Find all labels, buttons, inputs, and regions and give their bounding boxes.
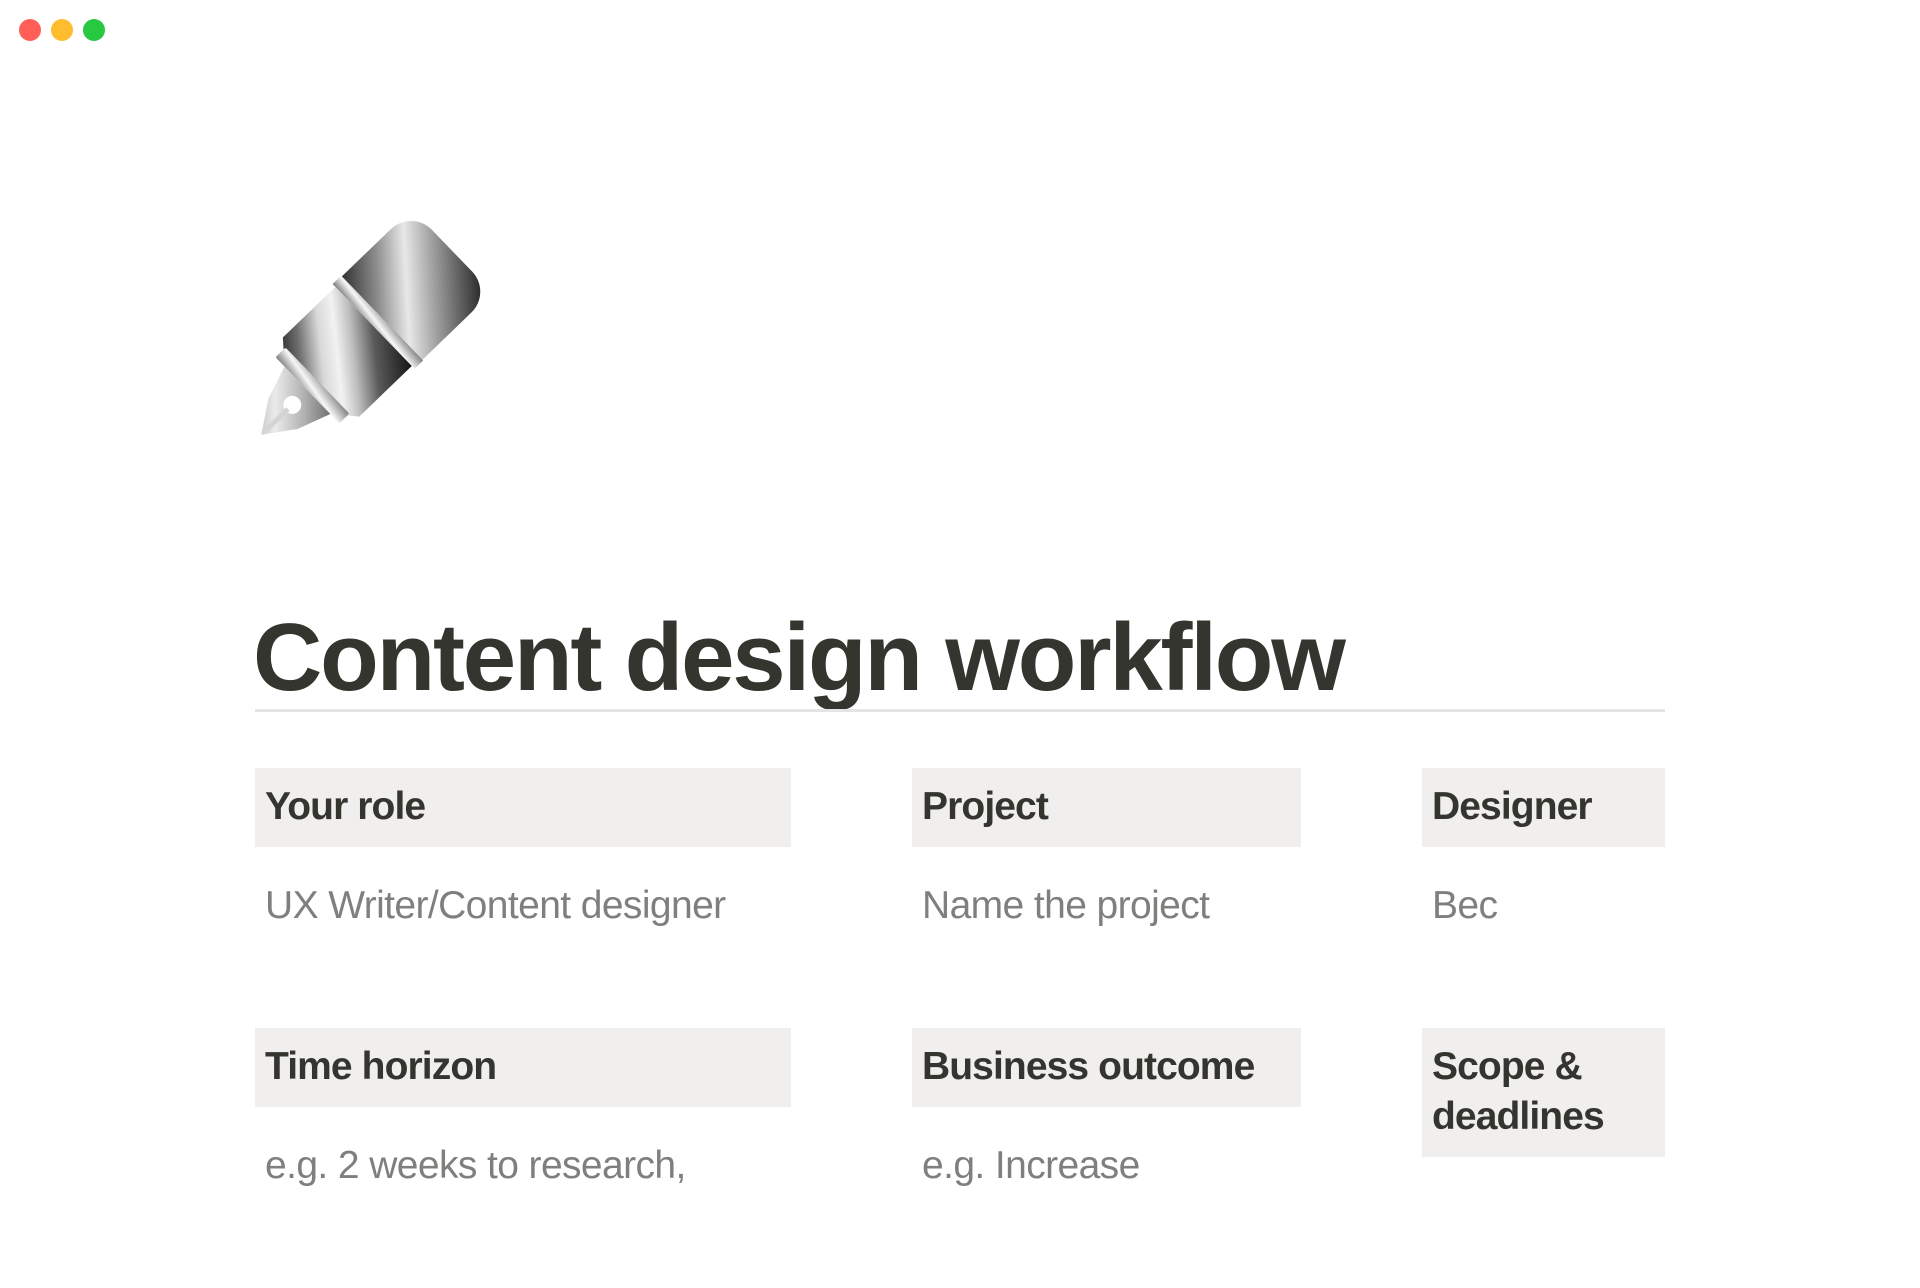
property-value-designer[interactable]: Bec (1422, 847, 1665, 932)
property-row: Time horizon e.g. 2 weeks to research, B… (0, 1028, 1920, 1288)
property-label-project: Project (912, 768, 1301, 847)
property-cell-scope-deadlines[interactable]: Scope & deadlines (1422, 1028, 1665, 1157)
property-cell-time-horizon[interactable]: Time horizon e.g. 2 weeks to research, (255, 1028, 791, 1192)
property-label-business-outcome: Business outcome (912, 1028, 1301, 1107)
property-value-project[interactable]: Name the project (912, 847, 1301, 932)
property-row: Your role UX Writer/Content designer Pro… (0, 768, 1920, 1028)
property-value-business-outcome[interactable]: e.g. Increase (912, 1107, 1301, 1192)
traffic-light-controls (19, 19, 105, 41)
property-grid: Your role UX Writer/Content designer Pro… (0, 768, 1920, 1288)
property-cell-business-outcome[interactable]: Business outcome e.g. Increase (912, 1028, 1301, 1192)
title-divider (255, 709, 1665, 712)
page-title[interactable]: Content design workflow (253, 604, 1703, 712)
property-value-time-horizon[interactable]: e.g. 2 weeks to research, (255, 1107, 791, 1192)
property-label-scope-deadlines: Scope & deadlines (1422, 1028, 1665, 1157)
property-value-your-role[interactable]: UX Writer/Content designer (255, 847, 791, 932)
minimize-window-button[interactable] (51, 19, 73, 41)
property-label-your-role: Your role (255, 768, 791, 847)
window-title-bar (0, 0, 1920, 62)
fountain-pen-icon[interactable] (250, 200, 500, 450)
close-window-button[interactable] (19, 19, 41, 41)
property-label-time-horizon: Time horizon (255, 1028, 791, 1107)
property-label-designer: Designer (1422, 768, 1665, 847)
property-cell-designer[interactable]: Designer Bec (1422, 768, 1665, 932)
property-cell-your-role[interactable]: Your role UX Writer/Content designer (255, 768, 791, 932)
property-cell-project[interactable]: Project Name the project (912, 768, 1301, 932)
page-canvas: Content design workflow Your role UX Wri… (0, 0, 1920, 1200)
maximize-window-button[interactable] (83, 19, 105, 41)
